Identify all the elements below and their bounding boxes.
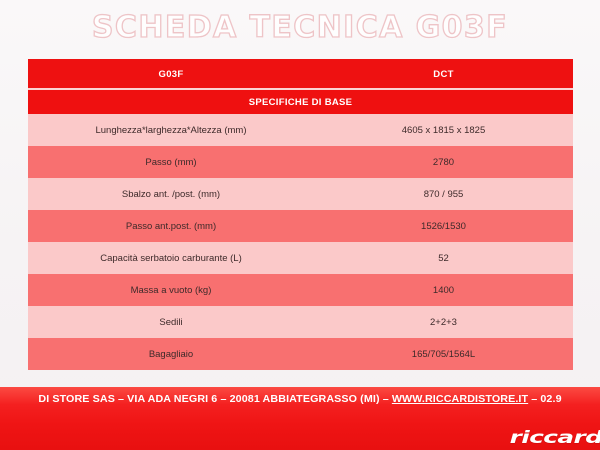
footer-text-before-link: DI STORE SAS – VIA ADA NEGRI 6 – 20081 A… [38,393,391,405]
footer-website-link[interactable]: WWW.RICCARDISTORE.IT [392,393,528,405]
spec-label: Sbalzo ant. /post. (mm) [28,178,314,210]
spec-value: 165/705/1564L [314,338,573,370]
table-section-row: SPECIFICHE DI BASE [28,90,573,114]
table-row: Bagagliaio 165/705/1564L [28,338,573,370]
spec-label: Capacità serbatoio carburante (L) [28,242,314,274]
spec-table: G03F DCT SPECIFICHE DI BASE Lunghezza*la… [28,59,573,370]
spec-value: 2780 [314,146,573,178]
footer-text-after-link: – 02.9 [528,393,561,405]
spec-label: Passo (mm) [28,146,314,178]
spec-value: 1526/1530 [314,210,573,242]
spec-value: 870 / 955 [314,178,573,210]
table-row: Sedili 2+2+3 [28,306,573,338]
table-row: Sbalzo ant. /post. (mm) 870 / 955 [28,178,573,210]
spec-label: Bagagliaio [28,338,314,370]
table-header-g03f: G03F [28,59,314,90]
spec-value: 2+2+3 [314,306,573,338]
spec-value: 52 [314,242,573,274]
table-section-header: SPECIFICHE DI BASE [28,90,573,114]
page-title-text: SCHEDA TECNICA G03F [92,13,508,43]
spec-label: Lunghezza*larghezza*Altezza (mm) [28,114,314,146]
table-row: Passo ant.post. (mm) 1526/1530 [28,210,573,242]
table-header-dct: DCT [314,59,573,90]
riccardi-logo: riccardi [509,427,600,447]
slide-canvas: SCHEDA TECNICA G03F G03F DCT SPECIFICHE … [0,0,600,450]
table-row: Passo (mm) 2780 [28,146,573,178]
spec-label: Passo ant.post. (mm) [28,210,314,242]
footer-band: DI STORE SAS – VIA ADA NEGRI 6 – 20081 A… [0,387,600,450]
table-row: Capacità serbatoio carburante (L) 52 [28,242,573,274]
table-header-row: G03F DCT [28,59,573,90]
table-row: Lunghezza*larghezza*Altezza (mm) 4605 x … [28,114,573,146]
spec-table-body: G03F DCT SPECIFICHE DI BASE Lunghezza*la… [28,59,573,370]
table-row: Massa a vuoto (kg) 1400 [28,274,573,306]
page-title: SCHEDA TECNICA G03F [0,5,600,51]
spec-label: Massa a vuoto (kg) [28,274,314,306]
spec-value: 4605 x 1815 x 1825 [314,114,573,146]
footer-contact-line: DI STORE SAS – VIA ADA NEGRI 6 – 20081 A… [0,393,600,405]
spec-value: 1400 [314,274,573,306]
spec-label: Sedili [28,306,314,338]
